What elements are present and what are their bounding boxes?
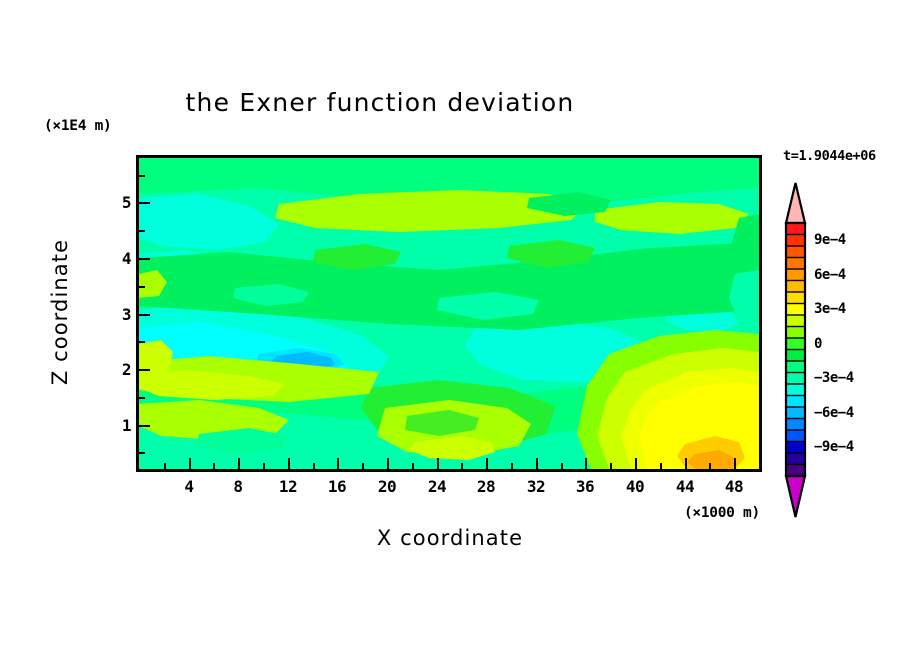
colorbar-over-arrow xyxy=(786,183,805,223)
x-tick-minor xyxy=(759,463,761,469)
colorbar-tick-label: −3e−4 xyxy=(814,370,854,386)
x-tick-label: 32 xyxy=(516,477,556,496)
colorbar-band xyxy=(786,465,805,477)
x-tick-label: 36 xyxy=(565,477,605,496)
colorbar-band xyxy=(786,338,805,350)
colorbar-band xyxy=(786,396,805,408)
y-tick-minor xyxy=(139,452,145,454)
colorbar-band xyxy=(786,419,805,431)
colorbar-band xyxy=(786,258,805,270)
x-tick-label: 40 xyxy=(615,477,655,496)
colorbar-band xyxy=(786,269,805,281)
x-tick-label: 4 xyxy=(169,477,209,496)
x-axis-title: X coordinate xyxy=(250,526,650,550)
x-tick-minor xyxy=(709,463,711,469)
x-tick-major xyxy=(238,458,240,469)
x-tick-label: 16 xyxy=(317,477,357,496)
colorbar-band xyxy=(786,407,805,419)
y-tick-label: 5 xyxy=(105,193,131,212)
y-tick-major xyxy=(139,258,150,260)
y-axis-title: Z coordinate xyxy=(48,212,72,412)
x-tick-major xyxy=(288,458,290,469)
colorbar-tick-label: 6e−4 xyxy=(814,267,846,283)
x-tick-major xyxy=(585,458,587,469)
x-tick-label: 44 xyxy=(665,477,705,496)
x-tick-major xyxy=(337,458,339,469)
colorbar xyxy=(779,181,813,521)
x-tick-label: 28 xyxy=(466,477,506,496)
colorbar-tick-label: −9e−4 xyxy=(814,439,854,455)
x-axis-unit-label: (×1000 m) xyxy=(684,505,760,521)
colorbar-band xyxy=(786,361,805,373)
x-tick-label: 48 xyxy=(714,477,754,496)
colorbar-band xyxy=(786,327,805,339)
contour-plot-area xyxy=(136,155,762,472)
colorbar-band xyxy=(786,373,805,385)
colorbar-band xyxy=(786,384,805,396)
x-tick-major xyxy=(189,458,191,469)
x-tick-minor xyxy=(610,463,612,469)
colorbar-band xyxy=(786,235,805,247)
page-title: the Exner function deviation xyxy=(0,88,760,117)
x-tick-major xyxy=(387,458,389,469)
x-tick-minor xyxy=(660,463,662,469)
colorbar-tick-label: 0 xyxy=(814,336,822,352)
y-tick-minor xyxy=(139,397,145,399)
x-tick-major xyxy=(486,458,488,469)
y-tick-minor xyxy=(139,175,145,177)
colorbar-band xyxy=(786,281,805,293)
x-tick-minor xyxy=(412,463,414,469)
colorbar-band xyxy=(786,350,805,362)
x-tick-minor xyxy=(164,463,166,469)
y-axis-unit-label: (×1E4 m) xyxy=(44,118,111,134)
x-tick-label: 8 xyxy=(218,477,258,496)
colorbar-band xyxy=(786,292,805,304)
x-tick-minor xyxy=(561,463,563,469)
x-tick-minor xyxy=(263,463,265,469)
colorbar-band xyxy=(786,430,805,442)
figure-root: the Exner function deviation (×1E4 m) t=… xyxy=(0,0,904,654)
y-tick-major xyxy=(139,425,150,427)
colorbar-band xyxy=(786,246,805,258)
y-tick-major xyxy=(139,202,150,204)
x-tick-major xyxy=(536,458,538,469)
x-tick-minor xyxy=(213,463,215,469)
y-tick-label: 3 xyxy=(105,305,131,324)
x-tick-label: 20 xyxy=(367,477,407,496)
y-tick-minor xyxy=(139,286,145,288)
x-tick-major xyxy=(635,458,637,469)
x-tick-minor xyxy=(313,463,315,469)
colorbar-band xyxy=(786,304,805,316)
colorbar-band xyxy=(786,442,805,454)
x-tick-label: 12 xyxy=(268,477,308,496)
y-tick-major xyxy=(139,314,150,316)
x-tick-major xyxy=(685,458,687,469)
x-tick-label: 24 xyxy=(417,477,457,496)
colorbar-scale xyxy=(779,181,813,521)
x-tick-minor xyxy=(461,463,463,469)
y-tick-label: 2 xyxy=(105,360,131,379)
y-tick-label: 1 xyxy=(105,416,131,435)
colorbar-tick-label: 9e−4 xyxy=(814,232,846,248)
y-tick-label: 4 xyxy=(105,249,131,268)
colorbar-band xyxy=(786,223,805,235)
y-tick-major xyxy=(139,369,150,371)
colorbar-tick-label: −6e−4 xyxy=(814,405,854,421)
y-tick-minor xyxy=(139,341,145,343)
x-tick-minor xyxy=(511,463,513,469)
colorbar-band xyxy=(786,315,805,327)
colorbar-under-arrow xyxy=(786,476,805,517)
y-tick-minor xyxy=(139,230,145,232)
contour-field xyxy=(139,158,759,469)
time-annotation: t=1.9044e+06 xyxy=(783,148,876,164)
x-tick-major xyxy=(437,458,439,469)
x-tick-minor xyxy=(362,463,364,469)
x-tick-major xyxy=(734,458,736,469)
colorbar-band xyxy=(786,453,805,465)
colorbar-tick-label: 3e−4 xyxy=(814,301,846,317)
